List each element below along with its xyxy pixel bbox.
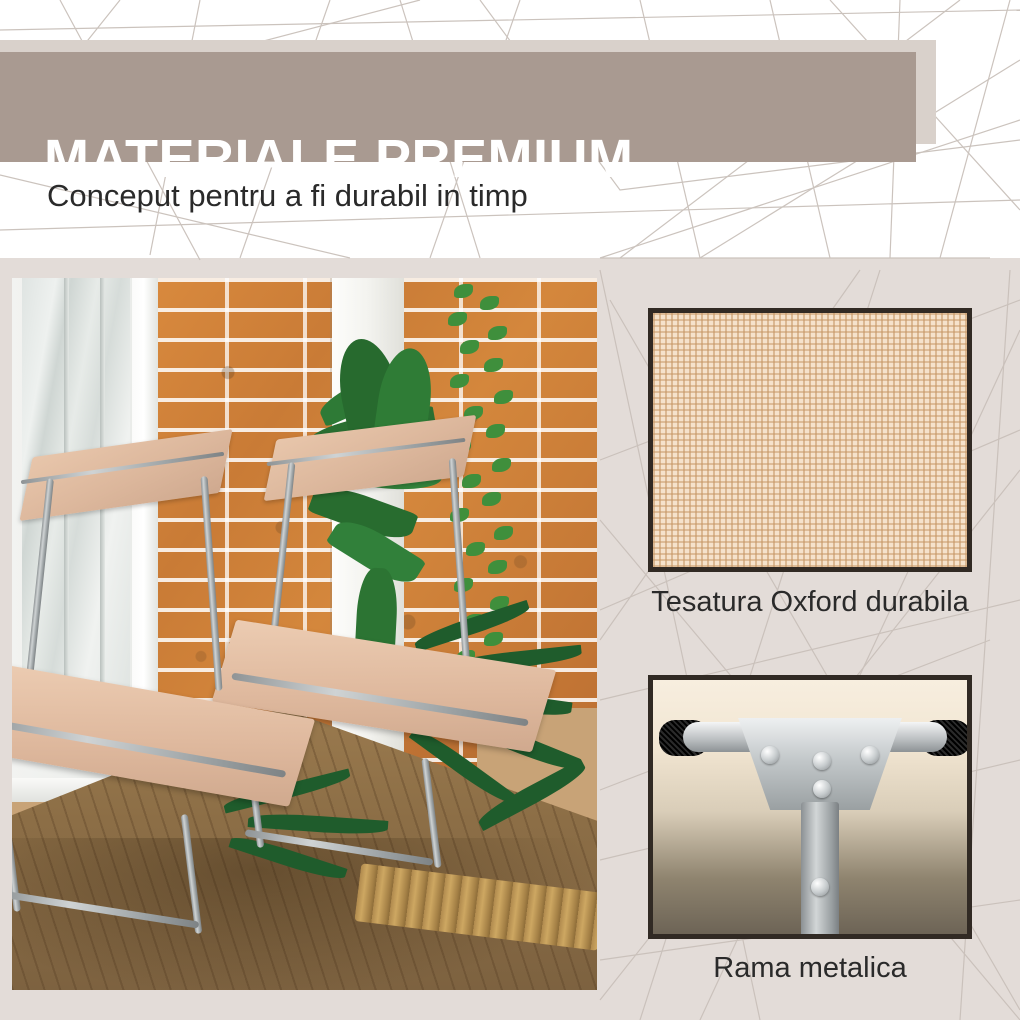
screw-icon	[813, 780, 831, 798]
main-product-photo	[12, 278, 597, 990]
frame-caption: Rama metalica	[648, 952, 972, 985]
fabric-swatch-panel	[648, 308, 972, 572]
infographic-page: MATERIALE PREMIUM Conceput pentru a fi d…	[0, 0, 1020, 1020]
screw-icon	[761, 746, 779, 764]
metal-frame-panel	[648, 675, 972, 939]
sun-lounger-front	[12, 438, 372, 898]
frame-vertical-tube	[801, 802, 839, 939]
screw-icon	[813, 752, 831, 770]
page-subtitle: Conceput pentru a fi durabil in timp	[47, 178, 528, 214]
fabric-caption: Tesatura Oxford durabila	[648, 586, 972, 619]
screw-icon	[811, 878, 829, 896]
screw-icon	[861, 746, 879, 764]
title-bar: MATERIALE PREMIUM	[0, 52, 916, 162]
